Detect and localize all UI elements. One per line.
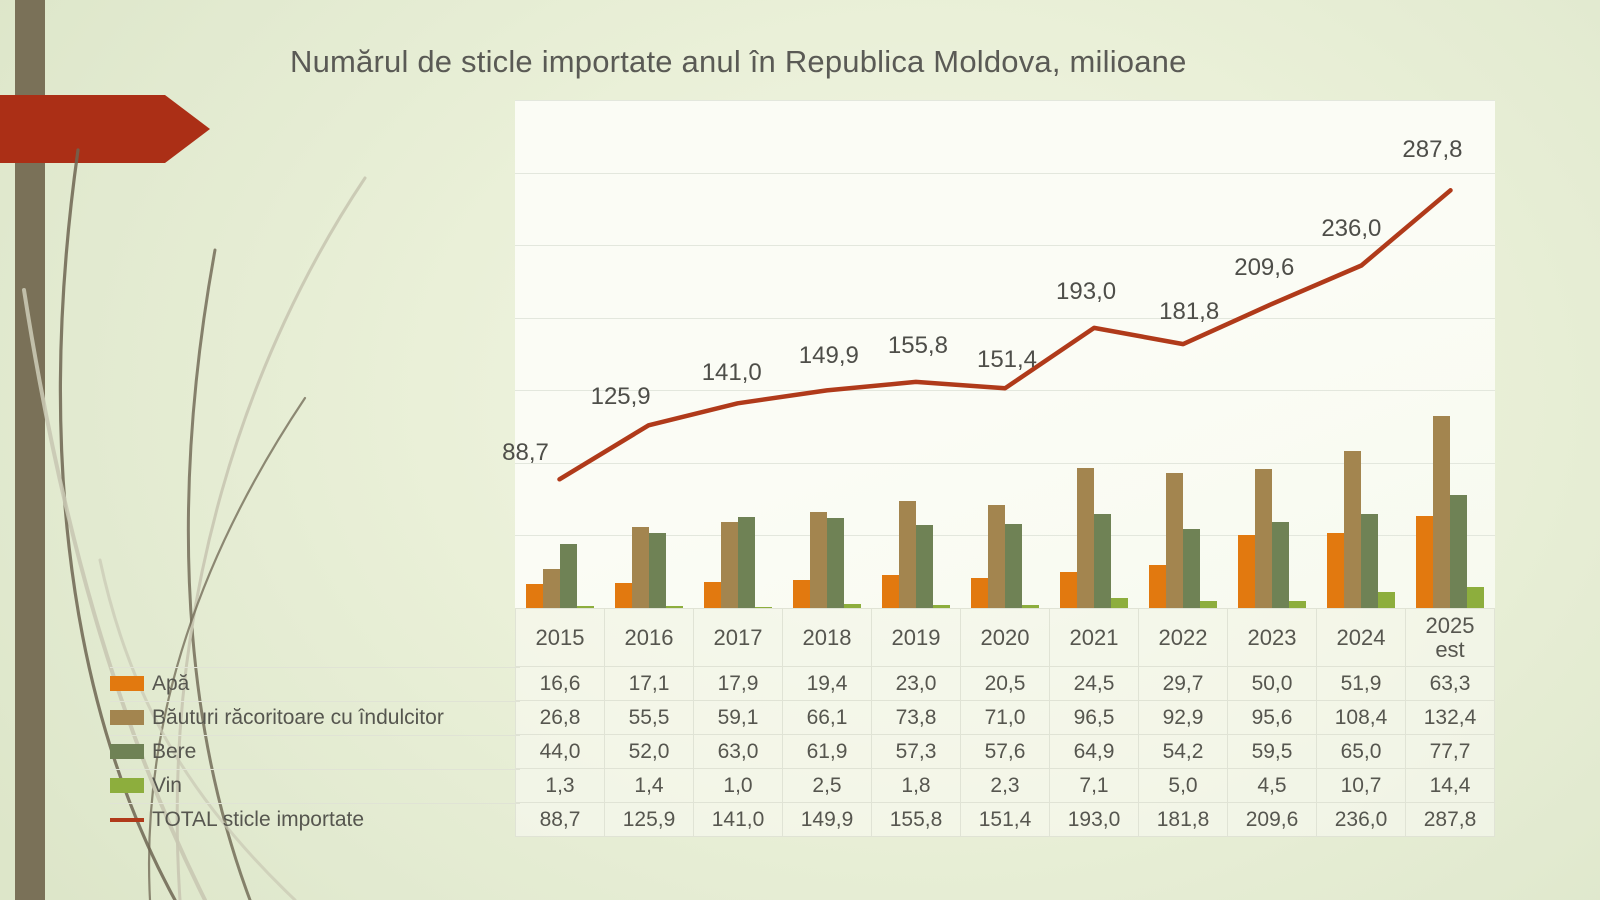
data-label: 181,8 <box>1159 298 1219 326</box>
table-cell: 108,4 <box>1317 701 1406 735</box>
table-cell: 63,3 <box>1406 667 1495 701</box>
table-cell: 209,6 <box>1228 803 1317 837</box>
chart-plot-area: 88,7125,9141,0149,9155,8151,4193,0181,82… <box>515 100 1495 608</box>
table-cell: 92,9 <box>1139 701 1228 735</box>
legend-item-bauturi-racoritoare-cu-indulcitor[interactable]: Băuturi răcoritoare cu îndulcitor <box>110 700 520 734</box>
decorative-arrow-banner <box>0 95 210 163</box>
table-cell: 23,0 <box>872 667 961 701</box>
chart-legend: ApăBăuturi răcoritoare cu îndulcitorBere… <box>110 666 520 836</box>
table-cell: 287,8 <box>1406 803 1495 837</box>
data-label: 236,0 <box>1321 215 1381 243</box>
table-column-header: 2021 <box>1050 609 1139 667</box>
table-cell: 73,8 <box>872 701 961 735</box>
table-cell: 66,1 <box>783 701 872 735</box>
table-cell: 17,9 <box>694 667 783 701</box>
legend-divider <box>110 701 520 702</box>
legend-label: Apă <box>152 672 189 696</box>
table-header-row: 2015201620172018201920202021202220232024… <box>516 609 1495 667</box>
legend-swatch-total-sticle-importate <box>110 818 144 822</box>
data-label: 141,0 <box>702 359 762 387</box>
table-cell: 57,6 <box>961 735 1050 769</box>
legend-item-apa[interactable]: Apă <box>110 666 520 700</box>
page-title: Numărul de sticle importate anul în Repu… <box>290 44 1330 80</box>
table-column-header: 2018 <box>783 609 872 667</box>
table-cell: 26,8 <box>516 701 605 735</box>
table-cell: 2,3 <box>961 769 1050 803</box>
table-cell: 19,4 <box>783 667 872 701</box>
table-cell: 52,0 <box>605 735 694 769</box>
legend-item-total-sticle-importate[interactable]: TOTAL sticle importate <box>110 802 520 836</box>
table-cell: 29,7 <box>1139 667 1228 701</box>
legend-divider <box>110 667 520 668</box>
table-column-header: 2022 <box>1139 609 1228 667</box>
legend-divider <box>110 769 520 770</box>
table-cell: 149,9 <box>783 803 872 837</box>
table-cell: 71,0 <box>961 701 1050 735</box>
table-column-header: 2019 <box>872 609 961 667</box>
legend-divider <box>110 803 520 804</box>
table-column-header: 2023 <box>1228 609 1317 667</box>
table-cell: 181,8 <box>1139 803 1228 837</box>
total-line <box>560 190 1451 479</box>
table-column-header: 2017 <box>694 609 783 667</box>
table-cell: 2,5 <box>783 769 872 803</box>
table-cell: 1,3 <box>516 769 605 803</box>
table-row: 44,052,063,061,957,357,664,954,259,565,0… <box>516 735 1495 769</box>
table-cell: 95,6 <box>1228 701 1317 735</box>
data-label: 287,8 <box>1402 136 1462 164</box>
legend-swatch-vin <box>110 778 144 793</box>
table-cell: 14,4 <box>1406 769 1495 803</box>
data-label: 155,8 <box>888 332 948 360</box>
table-cell: 57,3 <box>872 735 961 769</box>
table-cell: 5,0 <box>1139 769 1228 803</box>
legend-label: Băuturi răcoritoare cu îndulcitor <box>152 706 444 730</box>
legend-item-vin[interactable]: Vin <box>110 768 520 802</box>
table-cell: 44,0 <box>516 735 605 769</box>
table-row: 1,31,41,02,51,82,37,15,04,510,714,4 <box>516 769 1495 803</box>
table-cell: 88,7 <box>516 803 605 837</box>
data-label: 125,9 <box>591 383 651 411</box>
slide-canvas: Numărul de sticle importate anul în Repu… <box>0 0 1600 900</box>
table-cell: 1,8 <box>872 769 961 803</box>
table-cell: 1,0 <box>694 769 783 803</box>
table-cell: 64,9 <box>1050 735 1139 769</box>
legend-divider <box>110 735 520 736</box>
table-cell: 51,9 <box>1317 667 1406 701</box>
table-cell: 96,5 <box>1050 701 1139 735</box>
data-label: 193,0 <box>1056 278 1116 306</box>
table-column-header: 2025est <box>1406 609 1495 667</box>
table-cell: 151,4 <box>961 803 1050 837</box>
table-cell: 1,4 <box>605 769 694 803</box>
table-cell: 61,9 <box>783 735 872 769</box>
table-cell: 55,5 <box>605 701 694 735</box>
table-cell: 236,0 <box>1317 803 1406 837</box>
table-row: 16,617,117,919,423,020,524,529,750,051,9… <box>516 667 1495 701</box>
table-cell: 193,0 <box>1050 803 1139 837</box>
table-cell: 7,1 <box>1050 769 1139 803</box>
table-cell: 4,5 <box>1228 769 1317 803</box>
legend-label: Bere <box>152 740 196 764</box>
table-cell: 132,4 <box>1406 701 1495 735</box>
table-cell: 16,6 <box>516 667 605 701</box>
table-cell: 50,0 <box>1228 667 1317 701</box>
table-cell: 17,1 <box>605 667 694 701</box>
table-cell: 155,8 <box>872 803 961 837</box>
table-cell: 65,0 <box>1317 735 1406 769</box>
table-column-header: 2020 <box>961 609 1050 667</box>
table-cell: 59,1 <box>694 701 783 735</box>
table-row: 26,855,559,166,173,871,096,592,995,6108,… <box>516 701 1495 735</box>
table-cell: 125,9 <box>605 803 694 837</box>
table-cell: 20,5 <box>961 667 1050 701</box>
table-column-header: 2015 <box>516 609 605 667</box>
table-row: 88,7125,9141,0149,9155,8151,4193,0181,82… <box>516 803 1495 837</box>
table-cell: 54,2 <box>1139 735 1228 769</box>
table-column-header: 2016 <box>605 609 694 667</box>
legend-swatch-bere <box>110 744 144 759</box>
legend-label: Vin <box>152 774 182 798</box>
legend-label: TOTAL sticle importate <box>152 808 364 832</box>
table-column-header: 2024 <box>1317 609 1406 667</box>
table-cell: 141,0 <box>694 803 783 837</box>
table-cell: 59,5 <box>1228 735 1317 769</box>
data-label: 149,9 <box>799 342 859 370</box>
data-label: 88,7 <box>502 439 549 467</box>
table-cell: 63,0 <box>694 735 783 769</box>
legend-swatch-apa <box>110 676 144 691</box>
table-cell: 10,7 <box>1317 769 1406 803</box>
table-cell: 77,7 <box>1406 735 1495 769</box>
legend-item-bere[interactable]: Bere <box>110 734 520 768</box>
chart-data-table: 2015201620172018201920202021202220232024… <box>515 608 1495 837</box>
table-cell: 24,5 <box>1050 667 1139 701</box>
legend-swatch-bauturi-racoritoare-cu-indulcitor <box>110 710 144 725</box>
data-label: 151,4 <box>977 346 1037 374</box>
data-label: 209,6 <box>1234 254 1294 282</box>
